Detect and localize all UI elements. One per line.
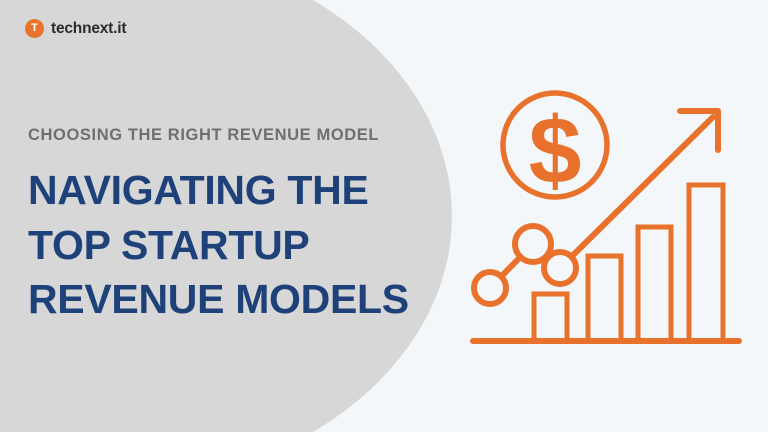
dollar-coin-icon: $ xyxy=(503,93,607,204)
bar-3 xyxy=(638,227,671,341)
growth-chart-illustration: $ xyxy=(455,70,755,370)
page-title: NAVIGATING THE TOP STARTUP REVENUE MODEL… xyxy=(28,163,448,327)
trend-node-3 xyxy=(544,252,576,284)
logo-mark-icon: T xyxy=(25,19,44,38)
logo-wordmark: technext.it xyxy=(51,20,126,38)
text-block: CHOOSING THE RIGHT REVENUE MODEL NAVIGAT… xyxy=(28,126,448,327)
poster-canvas: T technext.it CHOOSING THE RIGHT REVENUE… xyxy=(0,0,768,432)
bar-4 xyxy=(689,185,723,341)
bar-1 xyxy=(534,294,567,341)
growth-chart-svg: $ xyxy=(455,70,755,370)
brand-logo[interactable]: T technext.it xyxy=(25,19,126,38)
trend-line-with-nodes xyxy=(474,117,713,304)
headline-line-2: TOP STARTUP xyxy=(28,218,448,273)
eyebrow-text: CHOOSING THE RIGHT REVENUE MODEL xyxy=(28,126,448,145)
headline-line-1: NAVIGATING THE xyxy=(28,163,448,218)
trend-node-1 xyxy=(474,272,506,304)
bar-2 xyxy=(588,256,621,341)
headline-line-3: REVENUE MODELS xyxy=(28,272,448,327)
svg-text:$: $ xyxy=(529,98,582,204)
